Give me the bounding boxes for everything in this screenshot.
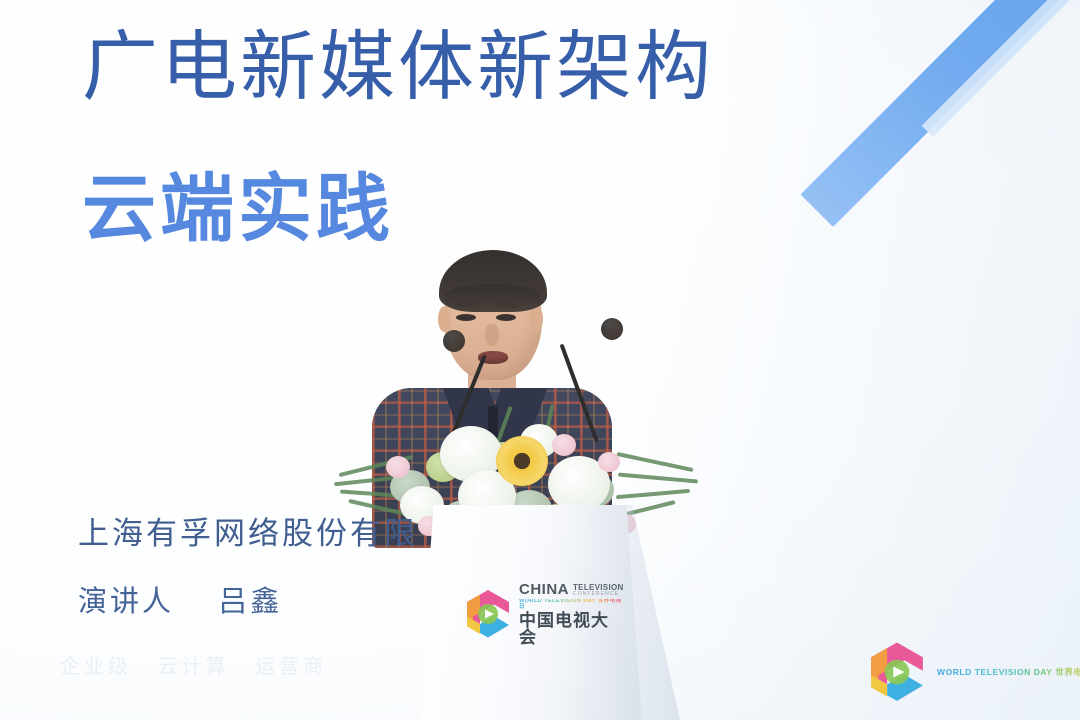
presentation-photo: 广电新媒体新架构 云端实践 — [0, 0, 1080, 720]
sunflower — [496, 436, 548, 486]
logo-china-text: CHINA — [519, 582, 569, 597]
tag-cloud-computing: 云计算 — [158, 656, 230, 678]
world-tv-day-hexagon-c-icon — [866, 640, 928, 704]
eye-left — [456, 314, 476, 321]
slide-company-name: 上海有孚网络股份有限 — [78, 508, 418, 553]
ear-right — [530, 306, 543, 332]
china-tv-conference-hexagon-c-icon — [463, 588, 513, 640]
tag-operator: 运营商 — [255, 656, 327, 678]
tag-enterprise: 企业级 — [60, 656, 132, 678]
slide-title-line-1: 广电新媒体新架构 — [82, 28, 714, 109]
eye-right — [496, 314, 516, 321]
podium-logo-text: CHINA TELEVISION CONFERENCE WORLD TELEVI… — [519, 582, 624, 645]
world-television-day-watermark: WORLD TELEVISION DAY 世界电视日 — [866, 636, 1066, 708]
logo-conference-text: CONFERENCE — [573, 592, 624, 597]
slide-speaker-line: 演讲人 吕鑫 — [78, 578, 282, 620]
watermark-text: WORLD TELEVISION DAY 世界电视日 — [937, 666, 1080, 678]
podium-logo: CHINA TELEVISION CONFERENCE WORLD TELEVI… — [463, 585, 609, 643]
mic-capsule — [601, 318, 623, 340]
mic-capsule — [443, 330, 465, 352]
speaker-name: 吕鑫 — [218, 586, 282, 618]
logo-chinese-text: 中国电视大会 — [519, 612, 624, 646]
slide-title-line-2: 云端实践 — [82, 170, 394, 248]
slide-tagline: 企业级 云计算 运营商 — [60, 650, 343, 679]
logo-world-tv-day-text: WORLD TELEVISION DAY 世界电视日 — [519, 599, 624, 610]
diagonal-ribbon-decoration — [750, 0, 1080, 240]
speaker-label: 演讲人 — [78, 586, 174, 618]
ear-left — [438, 306, 451, 332]
